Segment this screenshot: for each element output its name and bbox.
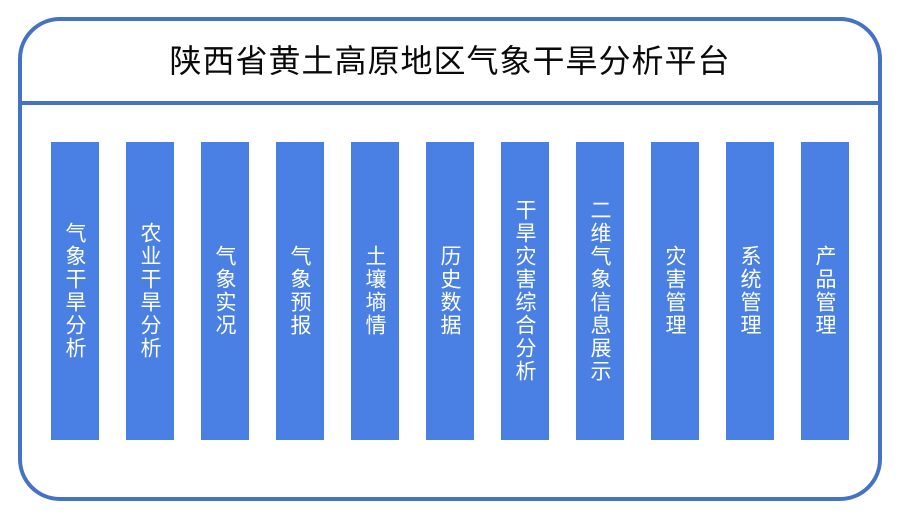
nav-button-meteorological-drought-analysis[interactable]: 气象干旱分析 (51, 142, 99, 440)
nav-button-label: 历史数据 (437, 245, 463, 337)
nav-button-system-management[interactable]: 系统管理 (726, 142, 774, 440)
nav-button-product-management[interactable]: 产品管理 (801, 142, 849, 440)
application-root: 陕西省黄土高原地区气象干旱分析平台 气象干旱分析 农业干旱分析 气象实况 气象预… (0, 0, 908, 517)
nav-button-disaster-management[interactable]: 灾害管理 (651, 142, 699, 440)
module-nav-strip: 气象干旱分析 农业干旱分析 气象实况 气象预报 土壤墒情 历史数据 干旱灾害综合… (22, 105, 878, 497)
nav-button-label: 土壤墒情 (362, 245, 388, 337)
nav-button-drought-disaster-comprehensive-analysis[interactable]: 干旱灾害综合分析 (501, 142, 549, 440)
nav-button-label: 灾害管理 (662, 245, 688, 337)
nav-button-weather-forecast[interactable]: 气象预报 (276, 142, 324, 440)
nav-button-label: 二维气象信息展示 (587, 199, 613, 383)
nav-button-label: 气象实况 (212, 245, 238, 337)
main-panel-frame: 陕西省黄土高原地区气象干旱分析平台 气象干旱分析 农业干旱分析 气象实况 气象预… (18, 17, 882, 501)
platform-header: 陕西省黄土高原地区气象干旱分析平台 (22, 21, 878, 101)
nav-button-label: 气象干旱分析 (62, 222, 88, 360)
nav-button-label: 农业干旱分析 (137, 222, 163, 360)
nav-button-historical-data[interactable]: 历史数据 (426, 142, 474, 440)
page-title: 陕西省黄土高原地区气象干旱分析平台 (169, 41, 730, 81)
nav-button-label: 气象预报 (287, 245, 313, 337)
nav-button-label: 干旱灾害综合分析 (512, 199, 538, 383)
nav-button-label: 产品管理 (812, 245, 838, 337)
nav-button-2d-weather-information-display[interactable]: 二维气象信息展示 (576, 142, 624, 440)
nav-button-weather-observation[interactable]: 气象实况 (201, 142, 249, 440)
nav-button-soil-moisture[interactable]: 土壤墒情 (351, 142, 399, 440)
nav-button-label: 系统管理 (737, 245, 763, 337)
nav-button-agricultural-drought-analysis[interactable]: 农业干旱分析 (126, 142, 174, 440)
